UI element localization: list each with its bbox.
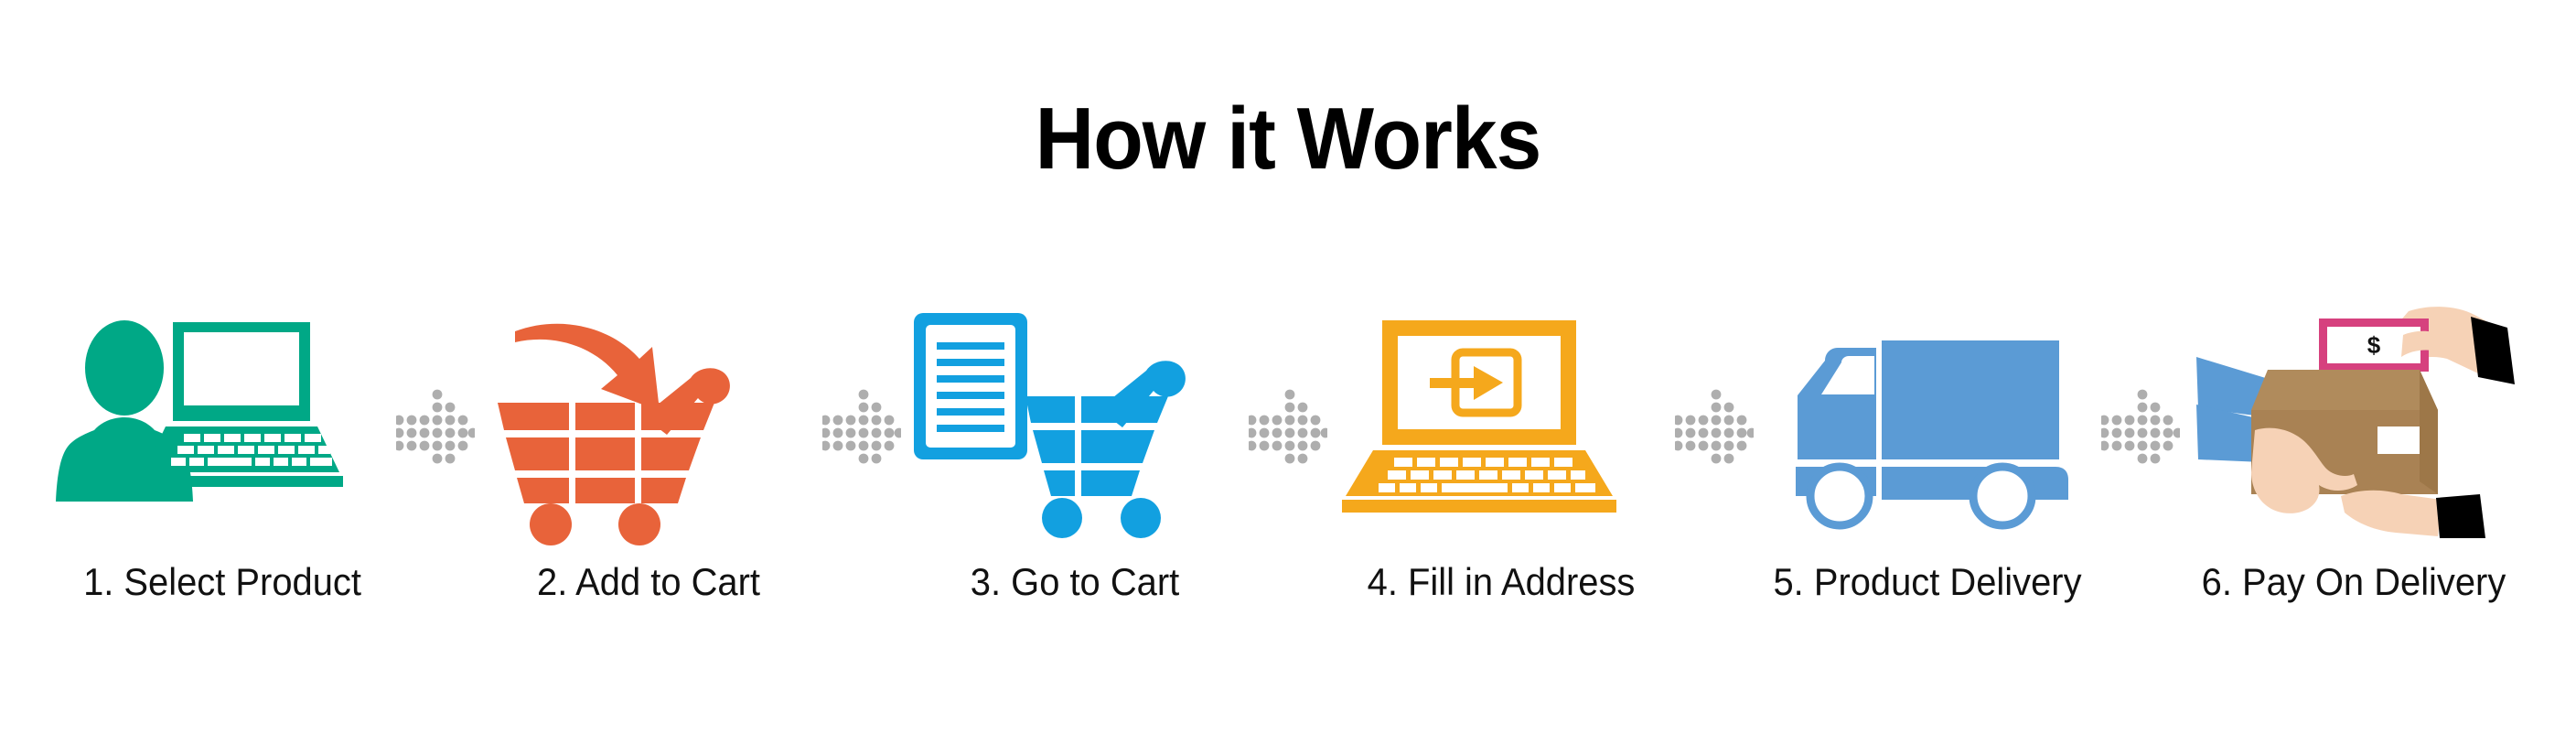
step-5-label: 5. Product Delivery [1763, 560, 2093, 604]
step-5-product-delivery[interactable]: 5. Product Delivery [1754, 302, 2101, 668]
step-4-fill-in-address[interactable]: 4. Fill in Address [1327, 302, 1675, 668]
page-title: How it Works [91, 95, 2486, 183]
step-6-label: 6. Pay On Delivery [2189, 560, 2519, 604]
laptop-with-login-arrow-icon [1327, 302, 1675, 549]
dotted-arrow-right-icon [2101, 302, 2180, 549]
svg-text:$: $ [2367, 331, 2381, 359]
arrow-into-shopping-cart-icon [475, 302, 822, 549]
dotted-arrow-right-icon [396, 302, 475, 549]
dotted-arrow-right-icon [1249, 302, 1327, 549]
document-with-shopping-cart-icon [901, 302, 1249, 549]
delivery-truck-icon [1754, 302, 2101, 549]
step-6-pay-on-delivery[interactable]: $ [2180, 302, 2528, 668]
step-1-label: 1. Select Product [58, 560, 388, 604]
step-3-go-to-cart[interactable]: 3. Go to Cart [901, 302, 1249, 668]
step-3-label: 3. Go to Cart [910, 560, 1240, 604]
hands-exchanging-box-and-cash-icon: $ [2180, 302, 2528, 549]
step-1-select-product[interactable]: 1. Select Product [48, 302, 396, 668]
step-2-add-to-cart[interactable]: 2. Add to Cart [475, 302, 822, 668]
dotted-arrow-right-icon [1675, 302, 1754, 549]
step-2-label: 2. Add to Cart [484, 560, 814, 604]
person-with-laptop-icon [48, 302, 396, 549]
steps-row: 1. Select Product [0, 302, 2576, 668]
step-4-label: 4. Fill in Address [1336, 560, 1667, 604]
dotted-arrow-right-icon [822, 302, 901, 549]
how-it-works-infographic: How it Works [0, 0, 2576, 745]
